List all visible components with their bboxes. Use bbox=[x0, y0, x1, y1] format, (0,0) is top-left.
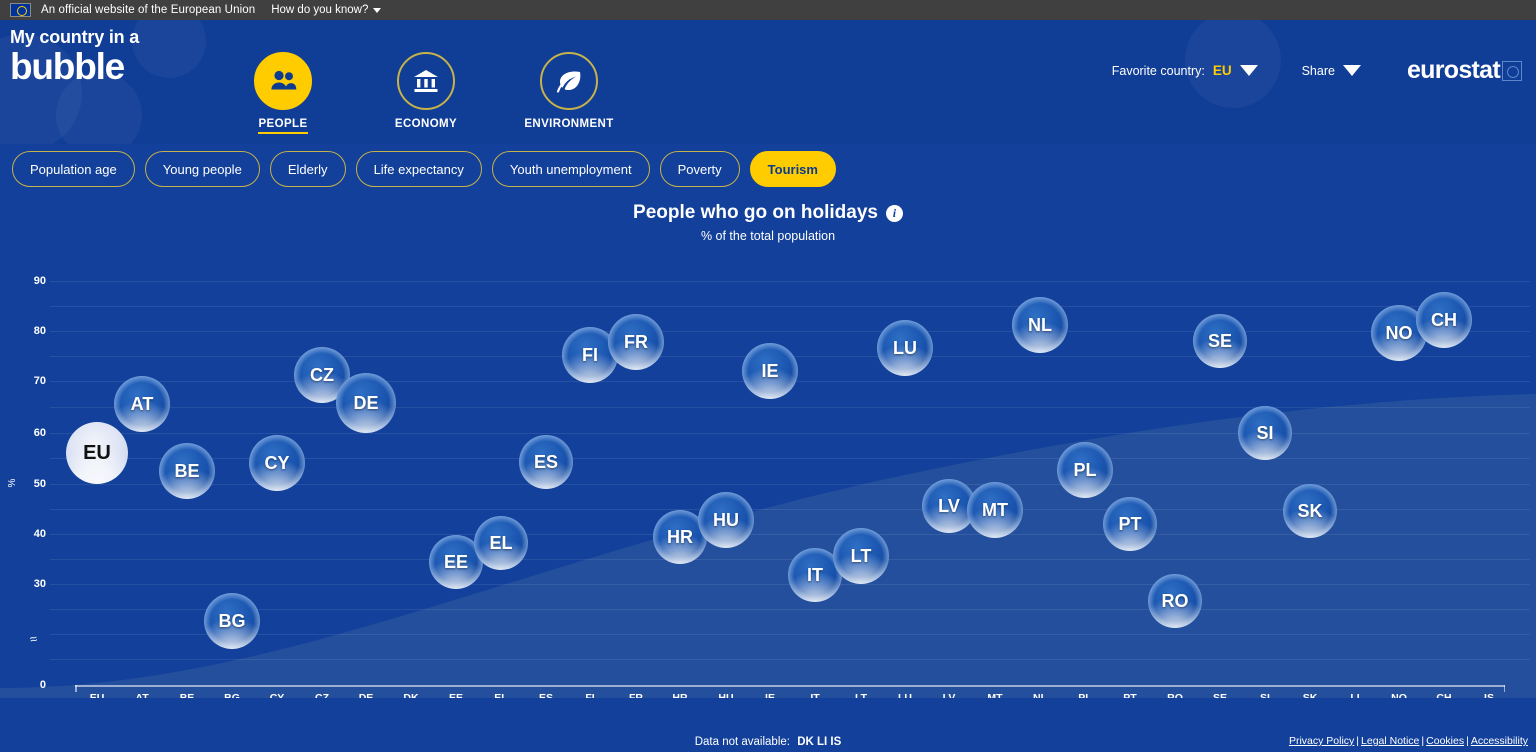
x-tick-label-eu: EU bbox=[90, 692, 105, 698]
x-tick-label-ch: CH bbox=[1436, 692, 1451, 698]
bubble-pt[interactable]: PT bbox=[1103, 497, 1157, 551]
nav-label-environment: ENVIRONMENT bbox=[524, 118, 613, 130]
nav-label-economy: ECONOMY bbox=[395, 118, 457, 130]
bubble-pl[interactable]: PL bbox=[1057, 442, 1113, 498]
y-tick-label: 30 bbox=[24, 578, 46, 590]
x-tick-label-si: SI bbox=[1260, 692, 1270, 698]
x-tick-label-it: IT bbox=[810, 692, 819, 698]
topic-pill-elderly[interactable]: Elderly bbox=[270, 151, 346, 187]
eurostat-mark-icon bbox=[1502, 61, 1522, 81]
gridline-major bbox=[50, 281, 1530, 282]
x-tick-label-hu: HU bbox=[718, 692, 733, 698]
x-tick-label-nl: NL bbox=[1033, 692, 1047, 698]
y-tick-label: 40 bbox=[24, 528, 46, 540]
topic-pill-bar: Population ageYoung peopleElderlyLife ex… bbox=[12, 151, 836, 187]
gridline-minor bbox=[50, 659, 1530, 660]
bubble-sk[interactable]: SK bbox=[1283, 484, 1337, 538]
gridline-minor bbox=[50, 306, 1530, 307]
y-tick-label: 50 bbox=[24, 478, 46, 490]
x-tick-label-lu: LU bbox=[898, 692, 912, 698]
x-tick-label-ee: EE bbox=[449, 692, 463, 698]
eurostat-logo[interactable]: eurostat bbox=[1407, 56, 1522, 85]
x-tick-label-cz: CZ bbox=[315, 692, 329, 698]
gridline-minor bbox=[50, 407, 1530, 408]
bubble-ro[interactable]: RO bbox=[1148, 574, 1202, 628]
bubble-cy[interactable]: CY bbox=[249, 435, 305, 491]
x-tick-label-lv: LV bbox=[943, 692, 956, 698]
x-tick-label-be: BE bbox=[180, 692, 195, 698]
bubble-chart: 90807060504030≈0% EUATBEBGCYCZDEDKEEELES… bbox=[0, 258, 1536, 698]
bubble-be[interactable]: BE bbox=[159, 443, 215, 499]
topic-pill-young-people[interactable]: Young people bbox=[145, 151, 260, 187]
bubble-se[interactable]: SE bbox=[1193, 314, 1247, 368]
eu-official-banner: An official website of the European Unio… bbox=[0, 0, 1536, 20]
site-header: My country in a bubble PEOPLE bbox=[0, 20, 1536, 144]
x-tick-label-pl: PL bbox=[1078, 692, 1091, 698]
x-tick-label-se: SE bbox=[1213, 692, 1227, 698]
y-tick-label: 60 bbox=[24, 427, 46, 439]
decorative-bubble bbox=[132, 20, 206, 78]
footer-link-privacy-policy[interactable]: Privacy Policy bbox=[1289, 735, 1354, 747]
x-tick-label-lt: LT bbox=[855, 692, 867, 698]
bubble-nl[interactable]: NL bbox=[1012, 297, 1068, 353]
x-tick-label-de: DE bbox=[359, 692, 374, 698]
eurostat-wordmark: eurostat bbox=[1407, 56, 1500, 85]
topic-pill-youth-unemployment[interactable]: Youth unemployment bbox=[492, 151, 650, 187]
x-tick-label-hr: HR bbox=[672, 692, 687, 698]
how-do-you-know-label: How do you know? bbox=[271, 4, 368, 16]
x-tick-label-no: NO bbox=[1391, 692, 1407, 698]
x-tick-label-bg: BG bbox=[224, 692, 240, 698]
x-tick-label-at: AT bbox=[135, 692, 148, 698]
y-tick-label: 70 bbox=[24, 375, 46, 387]
footer-links: Privacy Policy|Legal Notice|Cookies|Acce… bbox=[1289, 735, 1528, 747]
info-icon[interactable]: i bbox=[886, 205, 903, 222]
eu-banner-text: An official website of the European Unio… bbox=[41, 4, 255, 16]
gridline-minor bbox=[50, 634, 1530, 635]
share-label[interactable]: Share bbox=[1302, 64, 1335, 78]
bubble-mt[interactable]: MT bbox=[967, 482, 1023, 538]
gridline-minor bbox=[50, 559, 1530, 560]
chart-subtitle: % of the total population bbox=[0, 229, 1536, 243]
bubble-eu[interactable]: EU bbox=[66, 422, 128, 484]
y-tick-label: 80 bbox=[24, 325, 46, 337]
x-tick-label-ie: IE bbox=[765, 692, 775, 698]
gridline-major bbox=[50, 433, 1530, 434]
data-not-available-codes: DK LI IS bbox=[797, 736, 841, 748]
gridline-major bbox=[50, 331, 1530, 332]
favorite-country-label: Favorite country: bbox=[1112, 64, 1205, 78]
x-tick-label-is: IS bbox=[1484, 692, 1494, 698]
nav-label-people: PEOPLE bbox=[258, 118, 307, 134]
y-axis-break-icon: ≈ bbox=[29, 631, 38, 647]
nav-item-people[interactable]: PEOPLE bbox=[240, 52, 326, 134]
page-title: People who go on holidays i bbox=[633, 202, 903, 224]
bank-icon bbox=[397, 52, 455, 110]
share-chevron-down-icon[interactable] bbox=[1343, 65, 1361, 76]
topic-pill-poverty[interactable]: Poverty bbox=[660, 151, 740, 187]
topic-pill-life-expectancy[interactable]: Life expectancy bbox=[356, 151, 482, 187]
data-not-available-label: Data not available: bbox=[695, 736, 790, 748]
x-tick-label-fr: FR bbox=[629, 692, 643, 698]
leaf-icon bbox=[540, 52, 598, 110]
people-icon bbox=[254, 52, 312, 110]
logo-line-2: bubble bbox=[10, 48, 139, 85]
footer-link-separator: | bbox=[1356, 735, 1359, 747]
x-tick-label-es: ES bbox=[539, 692, 553, 698]
how-do-you-know-link[interactable]: How do you know? bbox=[271, 4, 381, 16]
bubble-ie[interactable]: IE bbox=[742, 343, 798, 399]
bubble-el[interactable]: EL bbox=[474, 516, 528, 570]
footer-link-accessibility[interactable]: Accessibility bbox=[1471, 735, 1528, 747]
x-tick-label-sk: SK bbox=[1303, 692, 1318, 698]
bubble-de[interactable]: DE bbox=[336, 373, 396, 433]
bubble-es[interactable]: ES bbox=[519, 435, 573, 489]
topic-pill-tourism[interactable]: Tourism bbox=[750, 151, 836, 187]
bubble-lu[interactable]: LU bbox=[877, 320, 933, 376]
x-tick-label-ro: RO bbox=[1167, 692, 1183, 698]
bubble-fr[interactable]: FR bbox=[608, 314, 664, 370]
footer-link-cookies[interactable]: Cookies bbox=[1426, 735, 1464, 747]
bubble-lt[interactable]: LT bbox=[833, 528, 889, 584]
chart-title-text: People who go on holidays bbox=[633, 202, 878, 224]
x-tick-label-cy: CY bbox=[270, 692, 285, 698]
x-tick-label-mt: MT bbox=[987, 692, 1002, 698]
x-tick-label-fi: FI bbox=[585, 692, 594, 698]
x-tick-label-pt: PT bbox=[1123, 692, 1136, 698]
chevron-down-icon bbox=[373, 8, 381, 13]
bubble-si[interactable]: SI bbox=[1238, 406, 1292, 460]
header-controls: Favorite country: EU Share eurostat bbox=[1112, 56, 1522, 85]
x-axis-line bbox=[75, 685, 1505, 687]
eu-flag-icon bbox=[10, 3, 31, 17]
y-tick-label: 90 bbox=[24, 275, 46, 287]
bubble-at[interactable]: AT bbox=[114, 376, 170, 432]
footer-link-legal-notice[interactable]: Legal Notice bbox=[1361, 735, 1419, 747]
footer-link-separator: | bbox=[1421, 735, 1424, 747]
logo-line-1: My country in a bbox=[10, 28, 139, 46]
app-root: An official website of the European Unio… bbox=[0, 0, 1536, 752]
bubble-hu[interactable]: HU bbox=[698, 492, 754, 548]
chart-header: People who go on holidays i % of the tot… bbox=[0, 202, 1536, 243]
nav-item-economy[interactable]: ECONOMY bbox=[383, 52, 469, 134]
topic-pill-population-age[interactable]: Population age bbox=[12, 151, 135, 187]
x-tick-label-li: LI bbox=[1350, 692, 1359, 698]
favorite-country-value[interactable]: EU bbox=[1213, 63, 1232, 78]
section-nav: PEOPLE ECONOMY bbox=[240, 52, 612, 134]
x-tick-label-el: EL bbox=[494, 692, 507, 698]
site-logo[interactable]: My country in a bubble bbox=[10, 28, 139, 85]
y-axis-unit-label: % bbox=[7, 479, 18, 488]
gridline-minor bbox=[50, 609, 1530, 610]
bubble-ch[interactable]: CH bbox=[1416, 292, 1472, 348]
x-tick-label-dk: DK bbox=[403, 692, 418, 698]
favorite-country-chevron-down-icon[interactable] bbox=[1240, 65, 1258, 76]
y-tick-label-zero: 0 bbox=[24, 679, 46, 691]
footer-link-separator: | bbox=[1466, 735, 1469, 747]
bubble-bg[interactable]: BG bbox=[204, 593, 260, 649]
nav-item-environment[interactable]: ENVIRONMENT bbox=[526, 52, 612, 134]
